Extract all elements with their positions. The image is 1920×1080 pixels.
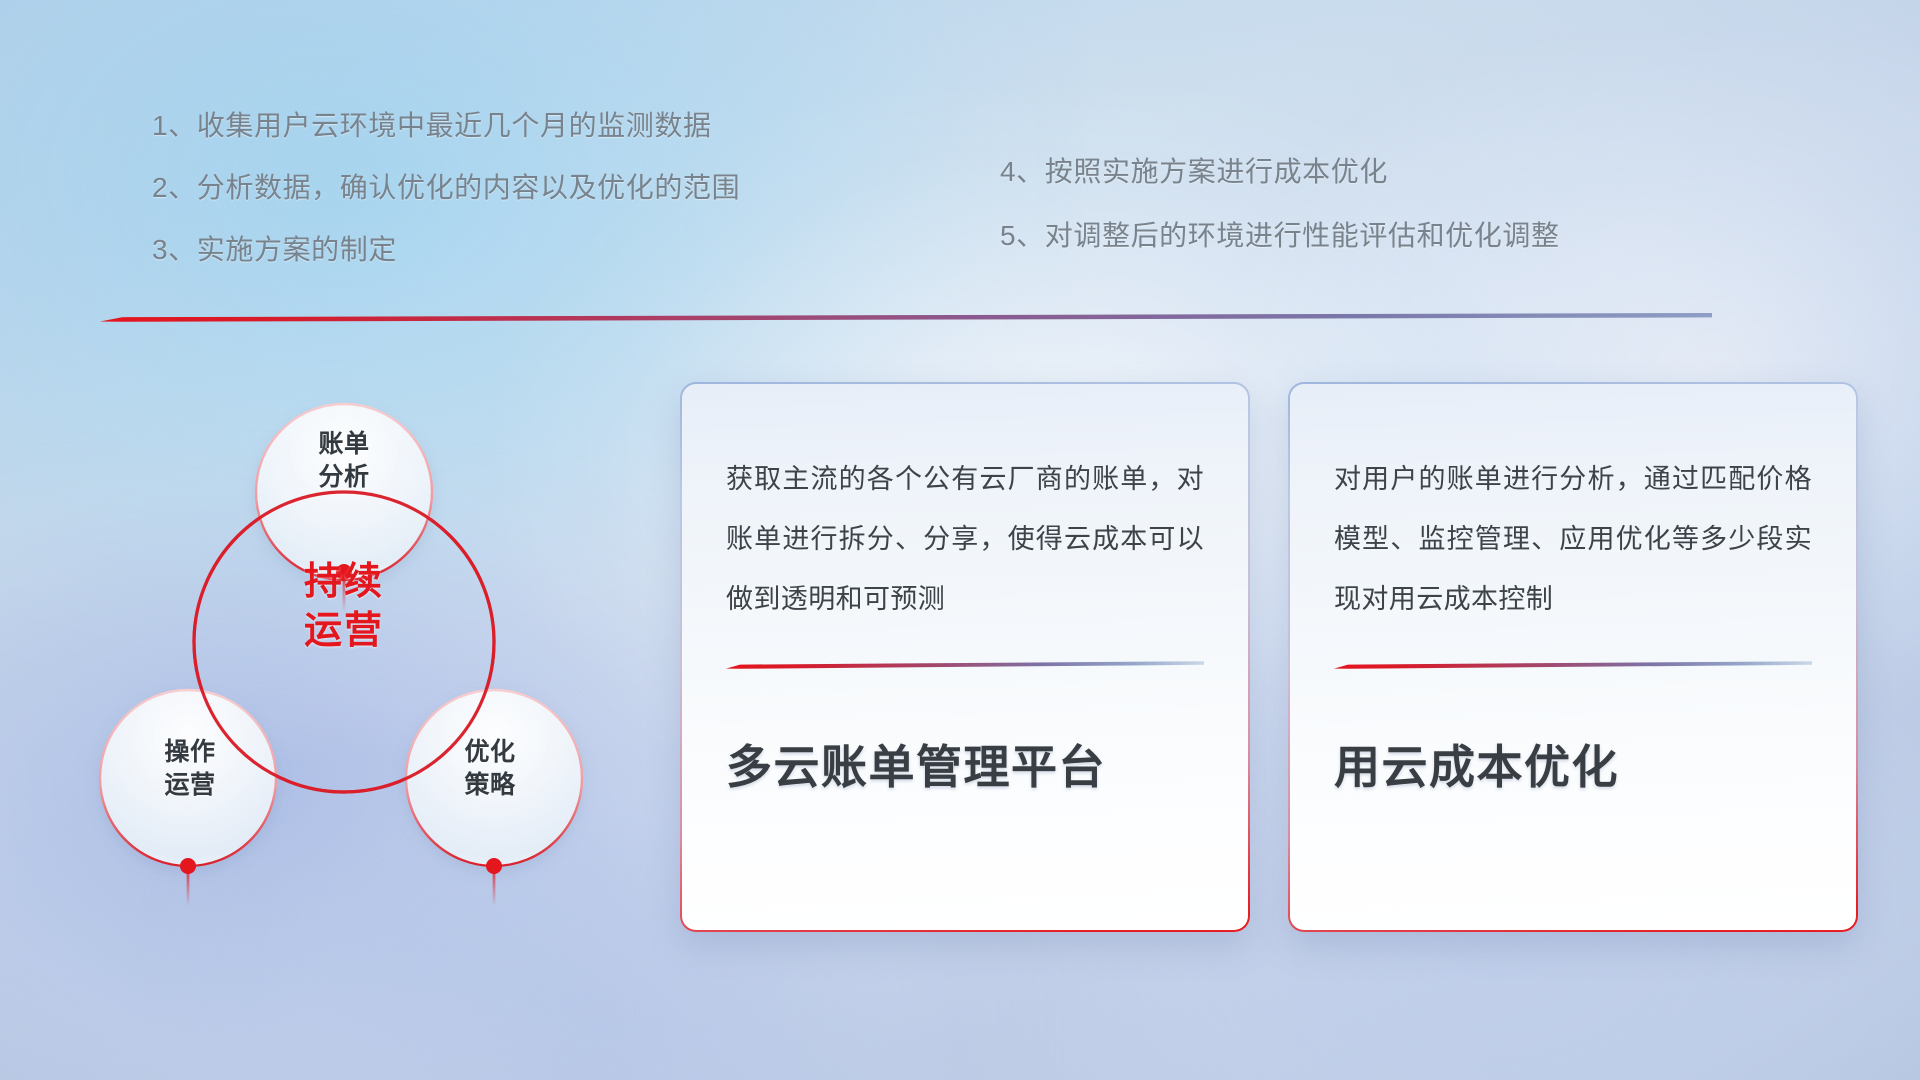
section-divider [100, 312, 1712, 322]
steps-right-column: 4、按照实施方案进行成本优化 5、对调整后的环境进行性能评估和优化调整 [1000, 158, 1560, 286]
feature-card-body: 对用户的账单进行分析，通过匹配价格模型、监控管理、应用优化等多少段实现对用云成本… [1334, 450, 1812, 630]
diagram-node-label-left: 操作 运营 [114, 736, 266, 802]
step-item-5: 5、对调整后的环境进行性能评估和优化调整 [1000, 222, 1560, 250]
feature-card-rule [726, 660, 1204, 669]
steps-left-column: 1、收集用户云环境中最近几个月的监测数据 2、分析数据，确认优化的内容以及优化的… [152, 112, 740, 298]
feature-card-rule [1334, 660, 1812, 669]
feature-card-inner: 获取主流的各个公有云厂商的账单，对账单进行拆分、分享，使得云成本可以做到透明和可… [682, 384, 1248, 930]
diagram-pin-right [486, 858, 502, 906]
feature-card-inner: 对用户的账单进行分析，通过匹配价格模型、监控管理、应用优化等多少段实现对用云成本… [1290, 384, 1856, 930]
feature-card-title: 多云账单管理平台 [726, 731, 1204, 797]
feature-card-title: 用云成本优化 [1334, 731, 1812, 797]
feature-card-cloud-cost-optimization[interactable]: 对用户的账单进行分析，通过匹配价格模型、监控管理、应用优化等多少段实现对用云成本… [1288, 382, 1858, 932]
feature-card-body: 获取主流的各个公有云厂商的账单，对账单进行拆分、分享，使得云成本可以做到透明和可… [726, 450, 1204, 630]
diagram-node-label-top: 账单 分析 [268, 428, 420, 494]
continuous-operation-diagram: 账单 分析 操作 运营 优化 策略 持续 运营 [96, 346, 596, 946]
step-item-3: 3、实施方案的制定 [152, 236, 740, 264]
step-item-1: 1、收集用户云环境中最近几个月的监测数据 [152, 112, 740, 140]
diagram-pin-left [180, 858, 196, 906]
slide-canvas: 1、收集用户云环境中最近几个月的监测数据 2、分析数据，确认优化的内容以及优化的… [0, 0, 1920, 1080]
feature-card-multicloud-billing[interactable]: 获取主流的各个公有云厂商的账单，对账单进行拆分、分享，使得云成本可以做到透明和可… [680, 382, 1250, 932]
step-item-4: 4、按照实施方案进行成本优化 [1000, 158, 1560, 186]
diagram-node-label-right: 优化 策略 [414, 736, 566, 802]
step-item-2: 2、分析数据，确认优化的内容以及优化的范围 [152, 174, 740, 202]
diagram-center-label: 持续 运营 [244, 558, 444, 655]
